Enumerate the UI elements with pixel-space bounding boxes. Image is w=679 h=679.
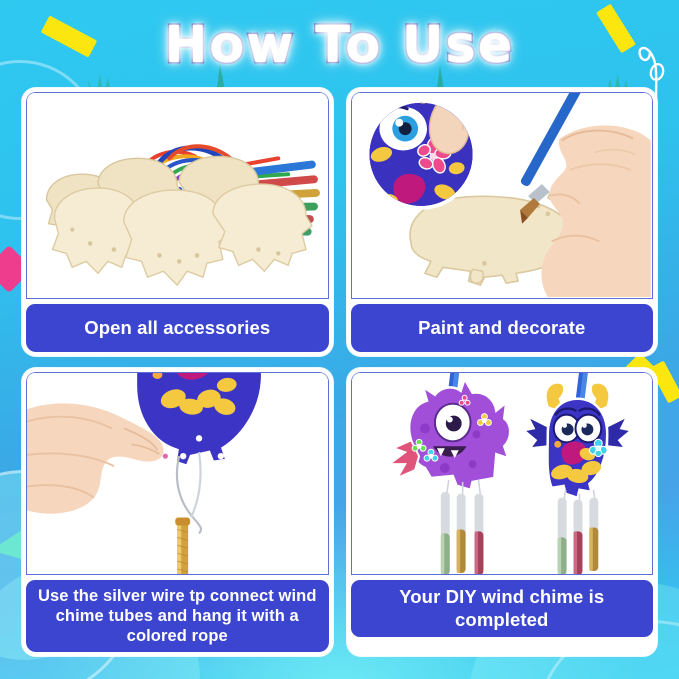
step-caption-2: Paint and decorate bbox=[351, 304, 654, 352]
step-panel-3: Use the silver wire tp connect wind chim… bbox=[22, 368, 333, 656]
how-to-use-infographic: How To Use bbox=[0, 0, 679, 679]
painting-photo bbox=[351, 92, 654, 299]
step-panel-2: Paint and decorate bbox=[347, 88, 658, 356]
step-caption-1: Open all accessories bbox=[26, 304, 329, 352]
step-caption-4: Your DIY wind chime is completed bbox=[351, 580, 654, 637]
step-caption-3: Use the silver wire tp connect wind chim… bbox=[26, 580, 329, 652]
step-panel-4: Your DIY wind chime is completed bbox=[347, 368, 658, 656]
accessories-photo bbox=[26, 92, 329, 299]
assembly-photo bbox=[26, 372, 329, 575]
page-title: How To Use bbox=[165, 16, 515, 75]
finished-photo bbox=[351, 372, 654, 575]
page-title-wrap: How To Use bbox=[0, 16, 679, 75]
steps-grid: Open all accessories bbox=[22, 88, 657, 656]
step-panel-1: Open all accessories bbox=[22, 88, 333, 356]
